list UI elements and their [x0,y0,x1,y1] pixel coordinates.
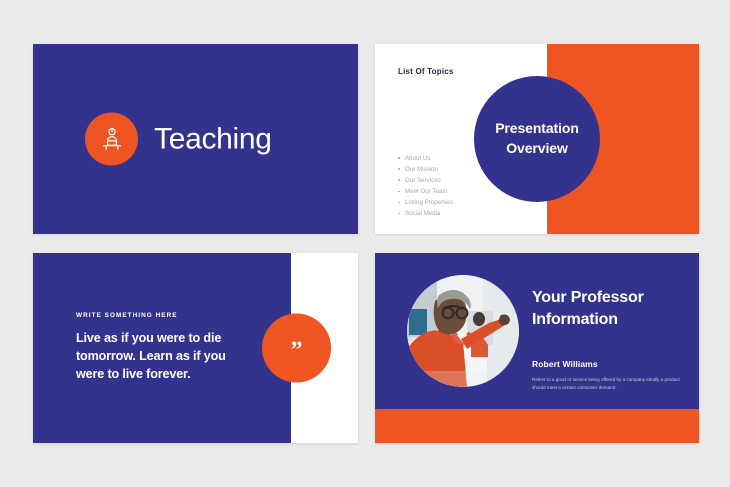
slide-overview[interactable]: List Of Topics About Us Our Mission Our … [375,44,699,234]
slide-professor[interactable]: Your Professor Information Robert Willia… [375,253,699,443]
professor-name: Robert Williams [532,359,680,369]
presentation-overview-circle: Presentation Overview [474,76,600,202]
list-item: Our Services [398,175,453,186]
quote-badge-circle: ” [262,314,331,383]
professor-title: Your Professor Information [532,287,680,331]
page-title: Teaching [154,124,272,154]
lecturer-podium-icon [85,113,138,166]
slide-quote[interactable]: WRITE SOMETHING HERE Live as if you were… [33,253,358,443]
slide-professor-orange-bar [375,409,699,443]
quote-text: Live as if you were to die tomorrow. Lea… [76,330,228,384]
list-item: Meet Our Team [398,186,453,197]
slide-quote-content: WRITE SOMETHING HERE Live as if you were… [76,312,228,384]
list-of-topics-heading: List Of Topics [398,67,454,76]
list-item: Social Media [398,208,453,219]
professor-description: Refers to a good or service being offere… [532,376,680,394]
overview-title-line-1: Presentation [495,119,579,139]
slide-title-content: Teaching [85,113,272,166]
slide-title[interactable]: Teaching [33,44,358,234]
list-item: About Us [398,153,453,164]
topics-list: About Us Our Mission Our Services Meet O… [398,153,453,219]
list-item: Our Mission [398,164,453,175]
professor-photo [407,275,519,387]
slide-deck-preview: Teaching List Of Topics About Us Our Mis… [0,0,730,487]
professor-title-line-2: Information [532,309,680,331]
list-item: Listing Properties [398,197,453,208]
overview-title-line-2: Overview [506,139,567,159]
professor-copy: Your Professor Information Robert Willia… [532,287,680,393]
quotation-mark-icon: ” [291,344,303,356]
quote-kicker: WRITE SOMETHING HERE [76,312,228,319]
professor-title-line-1: Your Professor [532,287,680,309]
